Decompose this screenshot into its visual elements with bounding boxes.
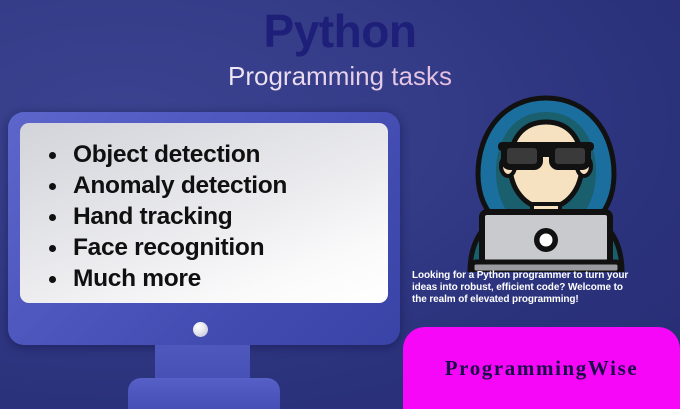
poster-canvas: Python Programming tasks Object detectio… bbox=[0, 0, 680, 409]
list-item: Object detection bbox=[47, 139, 380, 170]
promo-blurb: Looking for a Python programmer to turn … bbox=[412, 270, 634, 307]
laptop-logo-inner bbox=[540, 234, 553, 247]
monitor-screen: Object detection Anomaly detection Hand … bbox=[20, 123, 388, 303]
list-item: Hand tracking bbox=[47, 201, 380, 232]
monitor-power-button bbox=[193, 322, 208, 337]
brand-name: ProgrammingWise bbox=[445, 356, 639, 381]
brand-banner[interactable]: ProgrammingWise bbox=[403, 327, 680, 409]
page-subtitle: Programming tasks bbox=[0, 62, 680, 91]
monitor-stand-base bbox=[128, 378, 280, 409]
page-title: Python bbox=[0, 8, 680, 54]
list-item: Much more bbox=[47, 263, 380, 294]
hacker-icon bbox=[452, 92, 640, 272]
task-list: Object detection Anomaly detection Hand … bbox=[47, 139, 380, 294]
monitor-illustration: Object detection Anomaly detection Hand … bbox=[8, 112, 400, 345]
list-item: Face recognition bbox=[47, 232, 380, 263]
list-item: Anomaly detection bbox=[47, 170, 380, 201]
